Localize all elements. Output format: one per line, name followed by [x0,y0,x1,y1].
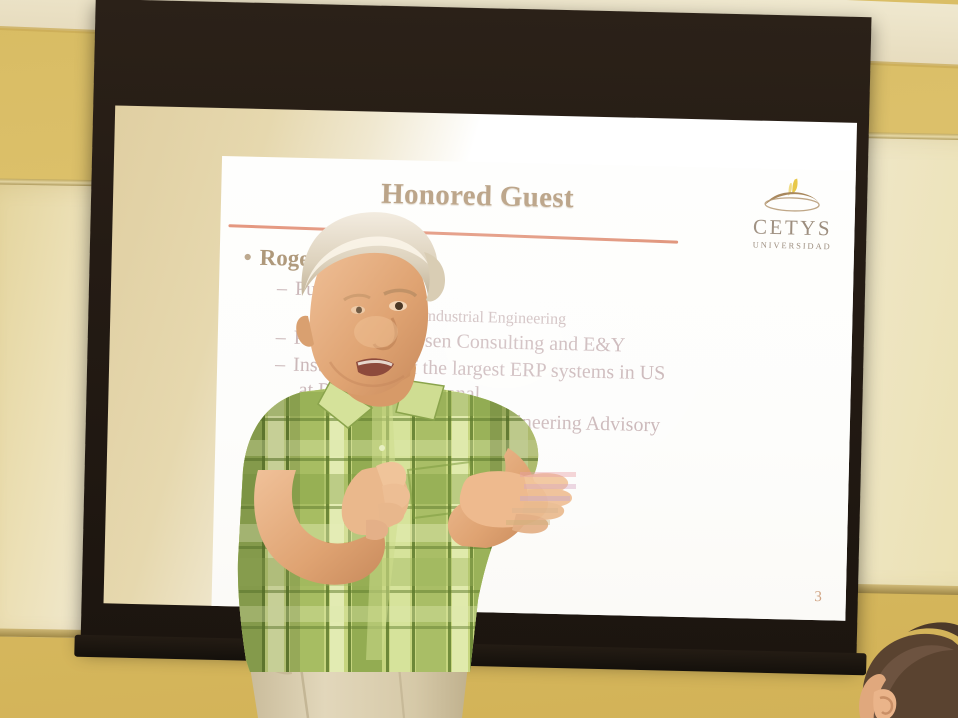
slide-title: Honored Guest [381,178,574,216]
bullet-text: Partner at Andersen Consulting and E&Y [294,327,626,357]
bullet-marker: • [243,245,260,271]
classroom-scene: Honored Guest CETYS UNIVERSID [0,0,958,718]
projection-screen-surface: Honored Guest CETYS UNIVERSID [104,105,858,620]
flame-swoosh-logo-icon [745,174,842,218]
cetys-logo: CETYS UNIVERSIDAD [744,174,842,260]
cetys-wordmark: CETYS [744,216,840,239]
slide-title-rule [228,224,678,243]
bullet-marker: • [314,305,328,323]
projected-slide: Honored Guest CETYS UNIVERSID [211,156,855,621]
bullet-marker: – [275,353,294,376]
audience-member-head [834,588,958,718]
bullet-text: Roger Willis [259,245,382,273]
bullet-text: BS and MS in Industrial Engineering [328,306,566,329]
projection-screen-assembly: Honored Guest CETYS UNIVERSID [80,0,871,665]
slide-bullet-list: •Roger Willis –Purdue graduate •BS and M… [229,244,844,470]
bullet-text: Purdue graduate [295,278,426,303]
slide-page-number: 3 [814,589,822,606]
bullet-marker: – [276,326,295,349]
bullet-marker: – [277,277,296,300]
bullet-marker: – [274,405,293,428]
cetys-subtitle: UNIVERSIDAD [744,239,840,251]
